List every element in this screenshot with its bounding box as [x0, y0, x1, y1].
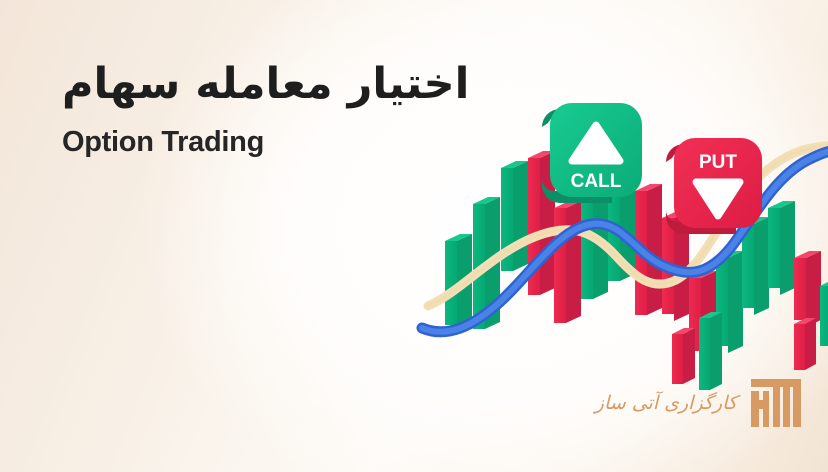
candle-bar [794, 318, 816, 370]
put-badge[interactable]: PUT [662, 136, 766, 242]
candle-bar [768, 201, 795, 295]
brand-lockup: کارگزاری آتی ساز [595, 378, 804, 428]
put-badge-label: PUT [699, 152, 737, 173]
call-badge[interactable]: CALL [536, 101, 646, 213]
candle-bar [794, 251, 821, 327]
atisaz-logo-mark [750, 378, 804, 428]
promo-banner: اختیار معامله سهام Option Trading [0, 0, 828, 472]
candle-bar [554, 201, 581, 323]
candle-bar [672, 328, 695, 384]
call-badge-label: CALL [571, 171, 622, 192]
candle-bar [820, 280, 828, 352]
brand-name: کارگزاری آتی ساز [595, 392, 737, 414]
